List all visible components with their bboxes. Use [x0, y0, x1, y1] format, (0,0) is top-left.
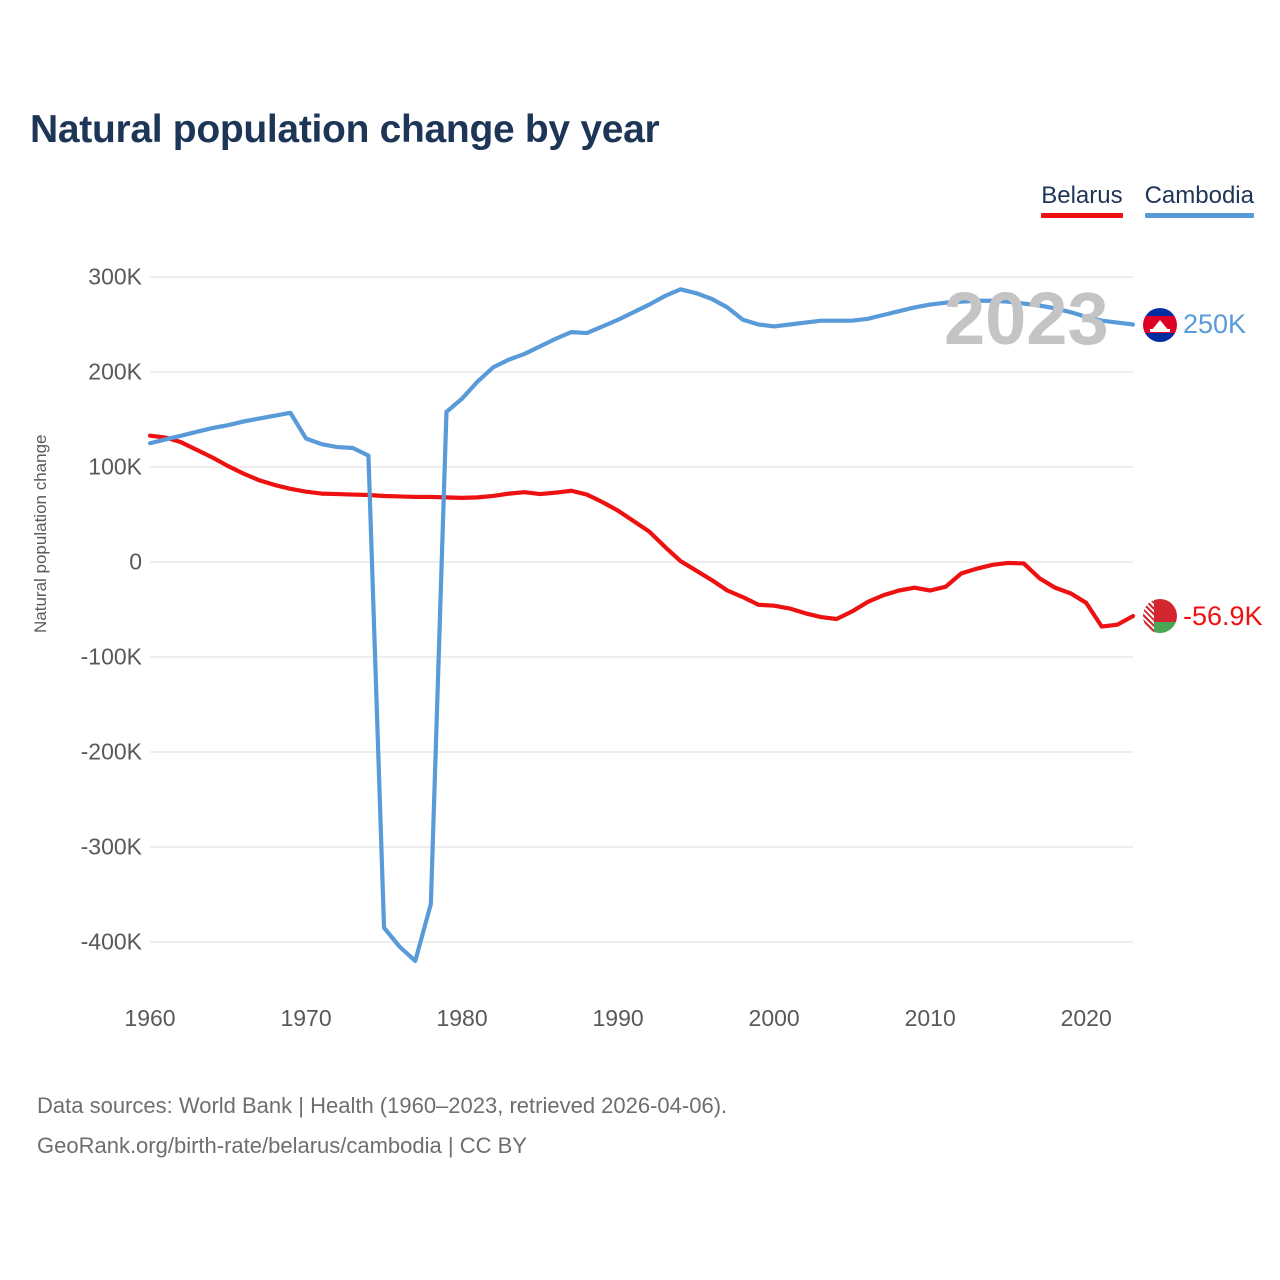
endpoint-value-cambodia: 250K	[1183, 309, 1246, 340]
chart-svg	[0, 255, 1280, 995]
legend: Belarus Cambodia	[1041, 182, 1254, 218]
cambodia-flag-icon	[1143, 308, 1177, 342]
endpoint-cambodia[interactable]: 250K	[1143, 308, 1246, 342]
legend-label-belarus: Belarus	[1041, 182, 1122, 210]
footer-line-sources: Data sources: World Bank | Health (1960–…	[37, 1086, 727, 1126]
endpoint-value-belarus: -56.9K	[1183, 601, 1263, 632]
legend-swatch-cambodia	[1145, 213, 1254, 218]
page-title: Natural population change by year	[30, 108, 659, 152]
footer: Data sources: World Bank | Health (1960–…	[37, 1086, 727, 1166]
footer-line-url: GeoRank.org/birth-rate/belarus/cambodia …	[37, 1126, 727, 1166]
legend-label-cambodia: Cambodia	[1145, 182, 1254, 210]
series-line-cambodia	[150, 289, 1133, 961]
series-line-belarus	[150, 436, 1133, 627]
belarus-flag-icon	[1143, 599, 1177, 633]
x-tick-label: 2000	[749, 1005, 800, 1032]
endpoint-belarus[interactable]: -56.9K	[1143, 599, 1263, 633]
plot-area	[0, 255, 1280, 995]
x-axis-ticks: 1960197019801990200020102020	[0, 1005, 1280, 1045]
x-tick-label: 1990	[593, 1005, 644, 1032]
x-tick-label: 2020	[1061, 1005, 1112, 1032]
x-tick-label: 1960	[124, 1005, 175, 1032]
x-tick-label: 1980	[436, 1005, 487, 1032]
legend-swatch-belarus	[1041, 213, 1122, 218]
x-tick-label: 1970	[280, 1005, 331, 1032]
x-tick-label: 2010	[905, 1005, 956, 1032]
legend-item-belarus[interactable]: Belarus	[1041, 182, 1122, 218]
legend-item-cambodia[interactable]: Cambodia	[1145, 182, 1254, 218]
